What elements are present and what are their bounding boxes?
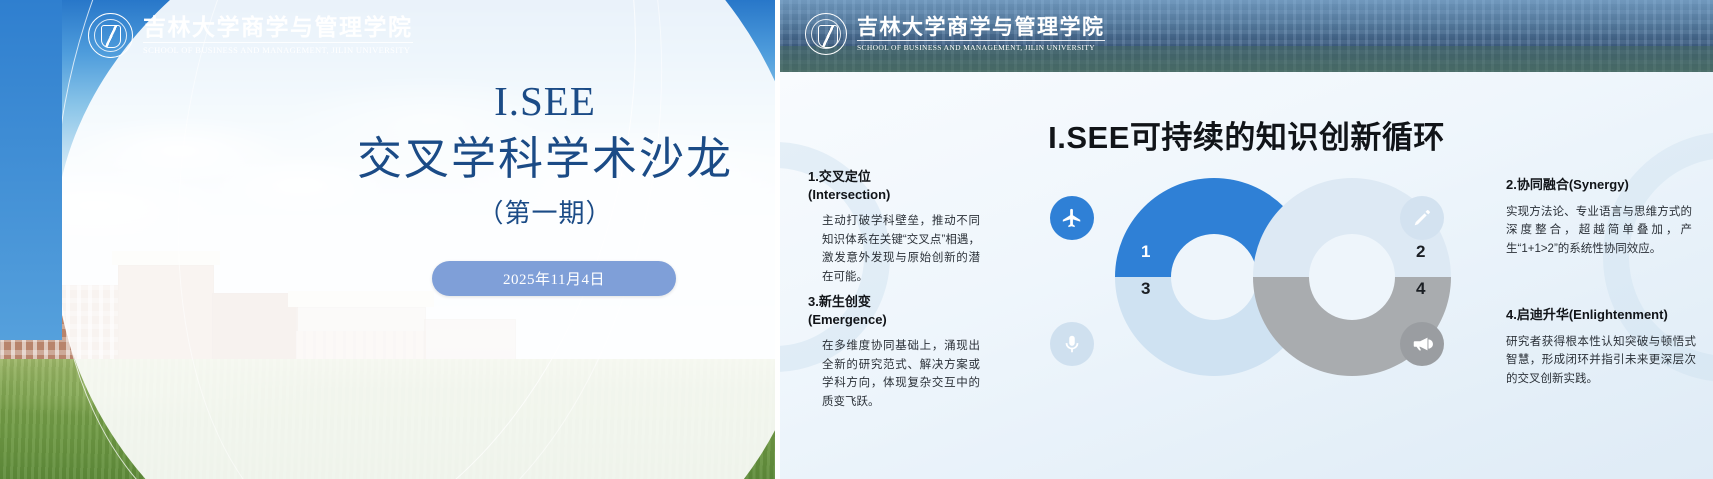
item-4-block: 4.启迪升华(Enlightenment) 研究者获得根本性认知突破与顿悟式智慧… — [1506, 306, 1696, 388]
item-1-block: 1.交叉定位 (Intersection) 主动打破学科壁垒，推动不同知识体系在… — [808, 168, 980, 287]
item-3-heading-line2: (Emergence) — [808, 311, 980, 329]
segment-number-1: 1 — [1141, 242, 1150, 262]
logo-chinese-name-right: 吉林大学商学与管理学院 — [857, 16, 1105, 38]
item-3-heading-line1: 3.新生创变 — [808, 293, 980, 311]
cover-title-cn: 交叉学科学术沙龙 — [330, 131, 760, 187]
item-4-heading-line1: 4.启迪升华(Enlightenment) — [1506, 306, 1696, 324]
microphone-icon — [1050, 322, 1094, 366]
university-seal-icon — [88, 13, 133, 58]
university-logo-lockup: 吉林大学商学与管理学院 SCHOOL OF BUSINESS AND MANAG… — [88, 13, 413, 58]
page-title: I.SEE可持续的知识创新循环 — [780, 112, 1713, 157]
segment-number-2: 2 — [1416, 242, 1425, 262]
item-1-heading-line1: 1.交叉定位 — [808, 168, 980, 186]
cover-title-en: I.SEE — [330, 78, 760, 125]
logo-english-name: SCHOOL OF BUSINESS AND MANAGEMENT, JILIN… — [143, 42, 413, 55]
slide-cover: 吉林大学商学与管理学院 SCHOOL OF BUSINESS AND MANAG… — [0, 0, 775, 479]
item-4-body: 研究者获得根本性认知突破与顿悟式智慧，形成闭环并指引未来更深层次的交叉创新实践。 — [1506, 333, 1696, 389]
item-1-body: 主动打破学科壁垒，推动不同知识体系在关键“交叉点”相遇，激发意外发现与原始创新的… — [808, 212, 980, 287]
slide-deck: 吉林大学商学与管理学院 SCHOOL OF BUSINESS AND MANAG… — [0, 0, 1713, 479]
item-2-block: 2.协同融合(Synergy) 实现方法论、专业语言与思维方式的深度整合，超越简… — [1506, 176, 1692, 258]
cover-title-group: I.SEE 交叉学科学术沙龙 （第一期） — [330, 78, 760, 230]
pen-nib-icon — [1400, 196, 1444, 240]
item-3-body: 在多维度协同基础上，涌现出全新的研究范式、解决方案或学科方向，体现复杂交互中的质… — [808, 337, 980, 412]
logo-english-name-right: SCHOOL OF BUSINESS AND MANAGEMENT, JILIN… — [857, 40, 1105, 52]
item-2-heading-line1: 2.协同融合(Synergy) — [1506, 176, 1692, 194]
logo-chinese-name: 吉林大学商学与管理学院 — [143, 16, 413, 40]
slide-content: 吉林大学商学与管理学院 SCHOOL OF BUSINESS AND MANAG… — [780, 0, 1713, 479]
item-2-body: 实现方法论、专业语言与思维方式的深度整合，超越简单叠加，产生“1+1>2”的系统… — [1506, 203, 1692, 259]
university-logo-lockup-right: 吉林大学商学与管理学院 SCHOOL OF BUSINESS AND MANAG… — [805, 13, 1105, 55]
item-1-heading-line2: (Intersection) — [808, 186, 980, 204]
cover-title-subtitle: （第一期） — [330, 193, 760, 230]
university-seal-icon-right — [805, 13, 847, 55]
donut-hole-left — [1171, 234, 1257, 320]
megaphone-icon — [1400, 322, 1444, 366]
content-panel: I.SEE可持续的知识创新循环 1 3 2 4 — [780, 72, 1713, 479]
airplane-icon — [1050, 196, 1094, 240]
segment-number-3: 3 — [1141, 279, 1150, 299]
item-3-block: 3.新生创变 (Emergence) 在多维度协同基础上，涌现出全新的研究范式、… — [808, 293, 980, 412]
donut-hole-right — [1309, 234, 1395, 320]
segment-number-4: 4 — [1416, 279, 1425, 299]
left-accent-bar — [0, 0, 62, 340]
event-date-badge: 2025年11月4日 — [432, 261, 676, 296]
